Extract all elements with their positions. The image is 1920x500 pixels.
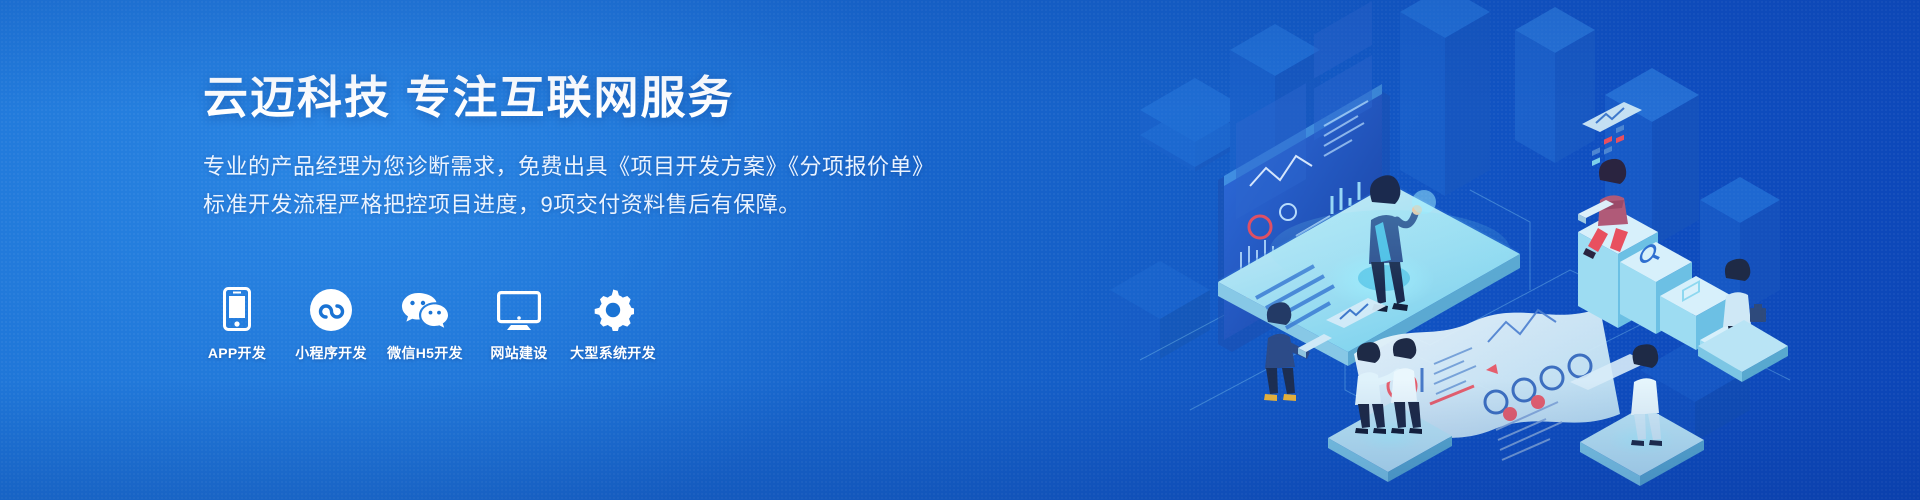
- service-label: 网站建设: [490, 343, 547, 363]
- service-icon-row: APP开发 小程序开发 微信: [200, 285, 650, 363]
- smartphone-icon: [223, 285, 251, 331]
- subtitle-line-1: 专业的产品经理为您诊断需求，免费出具《项目开发方案》《分项报价单》: [203, 148, 943, 186]
- service-item-large-system[interactable]: 大型系统开发: [576, 285, 650, 363]
- hero-banner: 云迈科技 专注互联网服务 专业的产品经理为您诊断需求，免费出具《项目开发方案》《…: [0, 0, 1920, 500]
- hero-copy: 云迈科技 专注互联网服务 专业的产品经理为您诊断需求，免费出具《项目开发方案》《…: [203, 72, 943, 223]
- subtitle-line-2: 标准开发流程严格把控项目进度，9项交付资料售后有保障。: [203, 186, 943, 224]
- service-item-wechat-h5[interactable]: 微信H5开发: [388, 285, 462, 363]
- service-label: APP开发: [208, 343, 266, 363]
- service-label: 大型系统开发: [570, 343, 656, 363]
- isometric-illustration: [1100, 0, 1800, 500]
- service-item-website[interactable]: 网站建设: [482, 285, 556, 363]
- page-title: 云迈科技 专注互联网服务: [203, 72, 943, 124]
- service-item-app[interactable]: APP开发: [200, 285, 274, 363]
- wechat-icon: [401, 285, 449, 331]
- service-item-mini-program[interactable]: 小程序开发: [294, 285, 368, 363]
- service-label: 微信H5开发: [387, 343, 463, 363]
- gear-icon: [592, 285, 634, 331]
- subtitle-block: 专业的产品经理为您诊断需求，免费出具《项目开发方案》《分项报价单》 标准开发流程…: [203, 148, 943, 224]
- monitor-icon: [497, 285, 541, 331]
- service-label: 小程序开发: [295, 343, 367, 363]
- mini-program-icon: [310, 285, 352, 331]
